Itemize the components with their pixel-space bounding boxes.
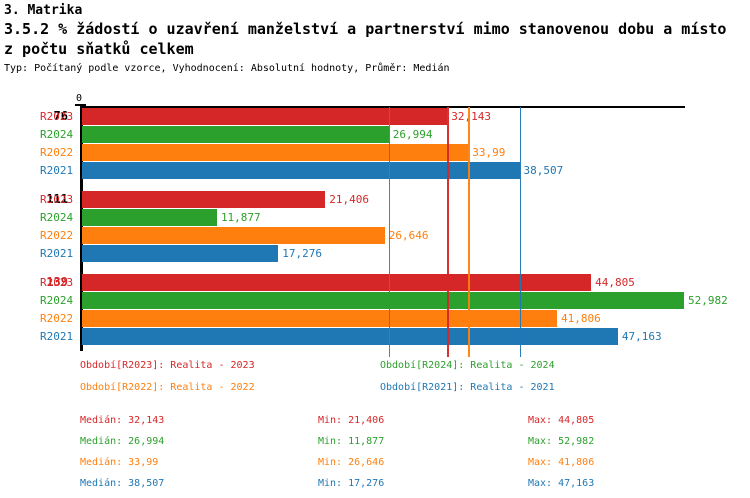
bar[interactable]: [82, 126, 389, 143]
title-block: 3. Matrika 3.5.2 % žádostí o uzavření ma…: [4, 2, 750, 76]
bar-value-label: 32,143: [451, 108, 491, 125]
stats-max-value: Max: 41,806: [528, 452, 594, 473]
stats-min-value: Min: 26,646: [318, 452, 384, 473]
stats-max-value: Max: 44,805: [528, 410, 594, 431]
bar-row-label: R2022: [40, 227, 88, 244]
stats-min-value: Min: 11,877: [318, 431, 384, 452]
bar-value-label: 33,99: [472, 144, 505, 161]
bar-row-label: R2021: [40, 162, 88, 179]
chart-subtitle: Typ: Počítaný podle vzorce, Vyhodnocení:…: [4, 62, 750, 76]
bar-row: R202426,994: [0, 126, 750, 143]
bar-row: R202411,877: [0, 209, 750, 226]
legend-item[interactable]: Období[R2024]: Realita - 2024: [380, 360, 555, 371]
bar-row: R202344,805: [0, 274, 750, 291]
bar[interactable]: [82, 310, 557, 327]
chart-legend: Období[R2023]: Realita - 2023Období[R202…: [0, 360, 750, 400]
bar-row-label: R2024: [40, 209, 88, 226]
bar-row-label: R2022: [40, 310, 88, 327]
bar-row: R202226,646: [0, 227, 750, 244]
chart-title-line-1: 3.5.2 % žádostí o uzavření manželství a …: [4, 19, 750, 39]
stats-row: Medián: 26,994Min: 11,877Max: 52,982: [0, 431, 750, 452]
bar[interactable]: [82, 274, 591, 291]
bar-row-label: R2024: [40, 292, 88, 309]
bar-row-label: R2024: [40, 126, 88, 143]
bar[interactable]: [82, 191, 325, 208]
bar-row-label: R2022: [40, 144, 88, 161]
page-title: 3. Matrika: [4, 2, 750, 19]
chart-title-line-2: z počtu sňatků celkem: [4, 39, 750, 59]
bar-value-label: 47,163: [622, 328, 662, 345]
bar[interactable]: [82, 227, 385, 244]
legend-item[interactable]: Období[R2021]: Realita - 2021: [380, 382, 555, 393]
bar-value-label: 21,406: [329, 191, 369, 208]
bar-row: R202117,276: [0, 245, 750, 262]
bar[interactable]: [82, 108, 447, 125]
bar-row: R202332,143: [0, 108, 750, 125]
stats-max-value: Max: 52,982: [528, 431, 594, 452]
stats-row: Medián: 38,507Min: 17,276Max: 47,163: [0, 473, 750, 494]
bar-row-label: R2023: [40, 274, 88, 291]
bar-value-label: 17,276: [282, 245, 322, 262]
bar-row: R202138,507: [0, 162, 750, 179]
legend-item[interactable]: Období[R2022]: Realita - 2022: [80, 382, 255, 393]
bar[interactable]: [82, 162, 520, 179]
bar-value-label: 52,982: [688, 292, 728, 309]
median-reference-line: [468, 107, 470, 357]
bar-row: R202241,806: [0, 310, 750, 327]
bar-row-label: R2023: [40, 191, 88, 208]
bar-row-label: R2021: [40, 245, 88, 262]
median-reference-line: [520, 107, 522, 357]
median-reference-line: [389, 107, 391, 357]
bar-row: R202147,163: [0, 328, 750, 345]
bar-row-label: R2023: [40, 108, 88, 125]
bar-value-label: 44,805: [595, 274, 635, 291]
bar-row: R202452,982: [0, 292, 750, 309]
bar-value-label: 38,507: [524, 162, 564, 179]
bar[interactable]: [82, 245, 278, 262]
bar-value-label: 11,877: [221, 209, 261, 226]
bar[interactable]: [82, 209, 217, 226]
bar-value-label: 41,806: [561, 310, 601, 327]
median-reference-line: [447, 107, 449, 357]
stats-max-value: Max: 47,163: [528, 473, 594, 494]
stats-row: Medián: 33,99Min: 26,646Max: 41,806: [0, 452, 750, 473]
bar-row: R202321,406: [0, 191, 750, 208]
stats-row: Medián: 32,143Min: 21,406Max: 44,805: [0, 410, 750, 431]
bar-row-label: R2021: [40, 328, 88, 345]
chart-area: 0 76R202332,143R202426,994R202233,99R202…: [0, 95, 750, 360]
bar-row: R202233,99: [0, 144, 750, 161]
stats-median-value: Medián: 33,99: [80, 452, 158, 473]
bar-value-label: 26,994: [393, 126, 433, 143]
legend-item[interactable]: Období[R2023]: Realita - 2023: [80, 360, 255, 371]
stats-median-value: Medián: 32,143: [80, 410, 164, 431]
stats-median-value: Medián: 26,994: [80, 431, 164, 452]
stats-min-value: Min: 17,276: [318, 473, 384, 494]
bar[interactable]: [82, 144, 468, 161]
bar[interactable]: [82, 328, 618, 345]
bar[interactable]: [82, 292, 684, 309]
bar-value-label: 26,646: [389, 227, 429, 244]
stats-median-value: Medián: 38,507: [80, 473, 164, 494]
plot-bars-container: 76R202332,143R202426,994R202233,99R20213…: [0, 95, 750, 360]
stats-min-value: Min: 21,406: [318, 410, 384, 431]
